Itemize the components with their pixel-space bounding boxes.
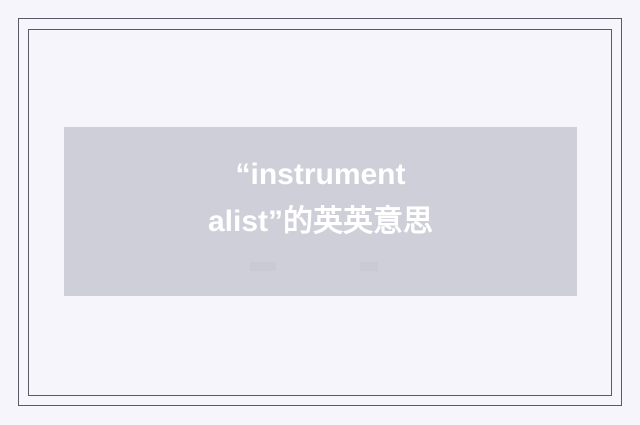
ghost-mark-left [250, 262, 276, 271]
ghost-mark-right [360, 262, 378, 271]
card-title-line-1: “instrument [235, 151, 405, 198]
ghost-artifact-row [64, 260, 577, 278]
title-card: “instrument alist”的英英意思 [64, 127, 577, 296]
card-title-line-2: alist”的英英意思 [208, 198, 433, 245]
page-canvas: “instrument alist”的英英意思 [0, 0, 640, 425]
